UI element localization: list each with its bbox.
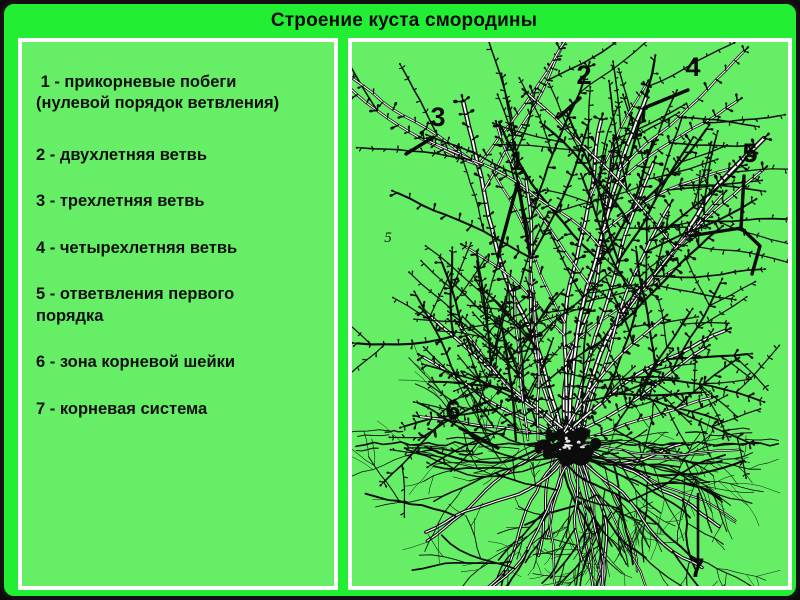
callout-6: 6 <box>445 395 460 425</box>
legend-list: 1 - прикорневые побеги (нулевой порядок … <box>22 42 334 586</box>
callout-label-4: 4 <box>685 52 700 82</box>
callout-label-2: 2 <box>576 60 591 90</box>
legend-item-6: 6 - зона корневой шейки <box>36 352 320 373</box>
callout-label-small-5: 5 <box>384 230 392 246</box>
legend-item-7: 7 - корневая система <box>36 399 320 420</box>
callout-label-3: 3 <box>430 102 445 132</box>
callout-label-6: 6 <box>445 395 460 425</box>
poster-root: Строение куста смородины 1 - прикорневые… <box>0 0 800 600</box>
legend-item-3: 3 - трехлетняя ветвь <box>36 191 320 212</box>
callout-1: 1 <box>509 146 524 176</box>
callout-2: 2 <box>576 60 591 90</box>
legend-item-4: 4 - четырехлетняя ветвь <box>36 238 320 259</box>
legend-panel: 1 - прикорневые побеги (нулевой порядок … <box>18 38 338 590</box>
diagram-panel: 32415675 <box>348 38 792 590</box>
callout-3: 3 <box>430 102 445 132</box>
legend-item-2: 2 - двухлетняя ветвь <box>36 145 320 166</box>
callout-4: 4 <box>685 52 700 82</box>
callout-5: 5 <box>742 138 757 168</box>
currant-bush-illustration: 32415675 <box>352 42 788 586</box>
callout-label-5: 5 <box>742 138 757 168</box>
legend-item-1: 1 - прикорневые побеги (нулевой порядок … <box>36 72 320 115</box>
legend-item-5: 5 - ответвления первого порядка <box>36 284 320 327</box>
page-title: Строение куста смородины <box>4 6 800 36</box>
callout-5b: 5 <box>384 230 392 246</box>
callout-label-1: 1 <box>509 146 524 176</box>
